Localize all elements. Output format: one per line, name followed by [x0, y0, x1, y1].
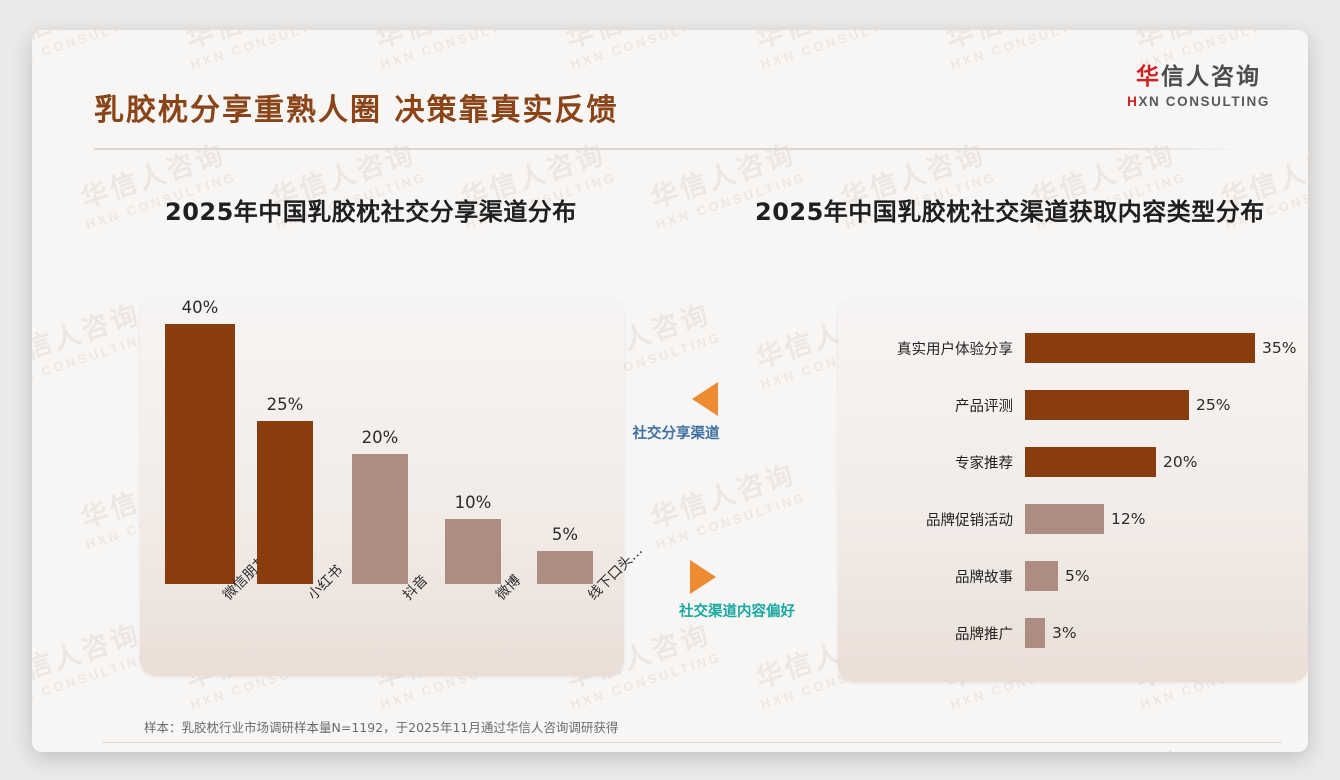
bar-category-label: 专家推荐 [838, 452, 1025, 473]
column-bar-group[interactable]: 10% [445, 493, 501, 584]
column-bar[interactable] [537, 551, 593, 584]
column-value-label: 40% [182, 298, 219, 317]
callout-share-label: 社交分享渠道 [616, 422, 736, 443]
bar-value-label: 35% [1262, 339, 1296, 357]
bar-value-label: 12% [1111, 510, 1145, 528]
watermark-text: 华信人咨询HXN CONSULTING [32, 297, 154, 393]
footer-divider [102, 742, 1282, 743]
right-chart-card: 真实用户体验分享35%产品评测25%专家推荐20%品牌促销活动12%品牌故事5%… [838, 300, 1308, 682]
right-chart-title: 2025年中国乳胶枕社交渠道获取内容类型分布 [755, 192, 1265, 227]
bar-category-label: 产品评测 [838, 395, 1025, 416]
triangle-right-icon [690, 560, 716, 594]
page-title: 乳胶枕分享重熟人圈 决策靠真实反馈 [94, 85, 618, 129]
source-note: 样本：乳胶枕行业市场调研样本量N=1192，于2025年11月通过华信人咨询调研… [144, 717, 618, 736]
left-chart-card: 40%微信朋友…25%小红书20%抖音10%微博5%线下口头… [140, 298, 624, 676]
bar-category-label: 品牌推广 [838, 623, 1025, 644]
column-bar[interactable] [445, 519, 501, 584]
column-category-label: 线下口头… [583, 590, 597, 604]
callout-social-share-channel: 社交分享渠道 [616, 382, 736, 443]
column-category-label: 微博 [491, 590, 505, 604]
bar-row[interactable]: 产品评测25% [838, 390, 1230, 420]
bar-category-label: 真实用户体验分享 [838, 338, 1025, 359]
bar-value-label: 25% [1196, 396, 1230, 414]
bar-row[interactable]: 真实用户体验分享35% [838, 333, 1296, 363]
watermark-text: 华信人咨询HXN CONSULTING [32, 617, 154, 713]
horizontal-bar[interactable] [1025, 561, 1058, 591]
column-bar[interactable] [165, 324, 235, 584]
logo-english-text: HXN CONSULTING [1127, 94, 1270, 109]
column-bar-group[interactable]: 25% [257, 395, 313, 584]
bar-value-label: 3% [1052, 624, 1077, 642]
watermark-text: 华信人咨询HXN CONSULTING [643, 457, 809, 553]
website-link[interactable]: www.hxrcon.com [1138, 749, 1236, 752]
column-bar[interactable] [257, 421, 313, 584]
column-value-label: 5% [552, 525, 578, 544]
callout-content-preference: 社交渠道内容偏好 [632, 560, 842, 621]
bar-value-label: 20% [1163, 453, 1197, 471]
column-value-label: 25% [267, 395, 304, 414]
column-category-label: 小红书 [303, 590, 317, 604]
horizontal-bar[interactable] [1025, 333, 1255, 363]
callout-preference-label: 社交渠道内容偏好 [632, 600, 842, 621]
column-bar-group[interactable]: 5% [537, 525, 593, 584]
triangle-left-icon [692, 382, 718, 416]
bar-chart-plot: 真实用户体验分享35%产品评测25%专家推荐20%品牌促销活动12%品牌故事5%… [838, 300, 1308, 682]
bar-row[interactable]: 专家推荐20% [838, 447, 1197, 477]
bar-category-label: 品牌故事 [838, 566, 1025, 587]
bar-value-label: 5% [1065, 567, 1090, 585]
column-bar[interactable] [352, 454, 408, 584]
slide-card: 华信人咨询HXN CONSULTING华信人咨询HXN CONSULTING华信… [32, 30, 1308, 752]
horizontal-bar[interactable] [1025, 447, 1156, 477]
horizontal-bar[interactable] [1025, 618, 1045, 648]
logo-cn-rest: 信人咨询 [1161, 64, 1261, 90]
horizontal-bar[interactable] [1025, 504, 1104, 534]
column-bar-group[interactable]: 20% [352, 428, 408, 584]
bar-row[interactable]: 品牌促销活动12% [838, 504, 1145, 534]
bar-row[interactable]: 品牌故事5% [838, 561, 1090, 591]
brand-logo: 华信人咨询 HXN CONSULTING [1127, 57, 1270, 109]
column-chart-plot: 40%微信朋友…25%小红书20%抖音10%微博5%线下口头… [140, 298, 624, 676]
logo-chinese-text: 华信人咨询 [1127, 57, 1270, 91]
bar-category-label: 品牌促销活动 [838, 509, 1025, 530]
logo-cn-highlight: 华 [1136, 64, 1161, 90]
column-category-label: 微信朋友… [218, 590, 232, 604]
column-value-label: 20% [362, 428, 399, 447]
horizontal-bar[interactable] [1025, 390, 1189, 420]
logo-en-rest: XN CONSULTING [1138, 94, 1270, 109]
column-bar-group[interactable]: 40% [165, 298, 235, 584]
slide-header: 乳胶枕分享重熟人圈 决策靠真实反馈 华信人咨询 HXN CONSULTING [32, 30, 1308, 120]
copyright-text: ©2026.1 HXR华信人咨询 [106, 749, 261, 752]
column-category-label: 抖音 [398, 590, 412, 604]
left-chart-title: 2025年中国乳胶枕社交分享渠道分布 [165, 192, 577, 227]
logo-en-highlight: H [1127, 94, 1138, 109]
bar-row[interactable]: 品牌推广3% [838, 618, 1077, 648]
column-value-label: 10% [455, 493, 492, 512]
header-divider [94, 148, 1244, 150]
